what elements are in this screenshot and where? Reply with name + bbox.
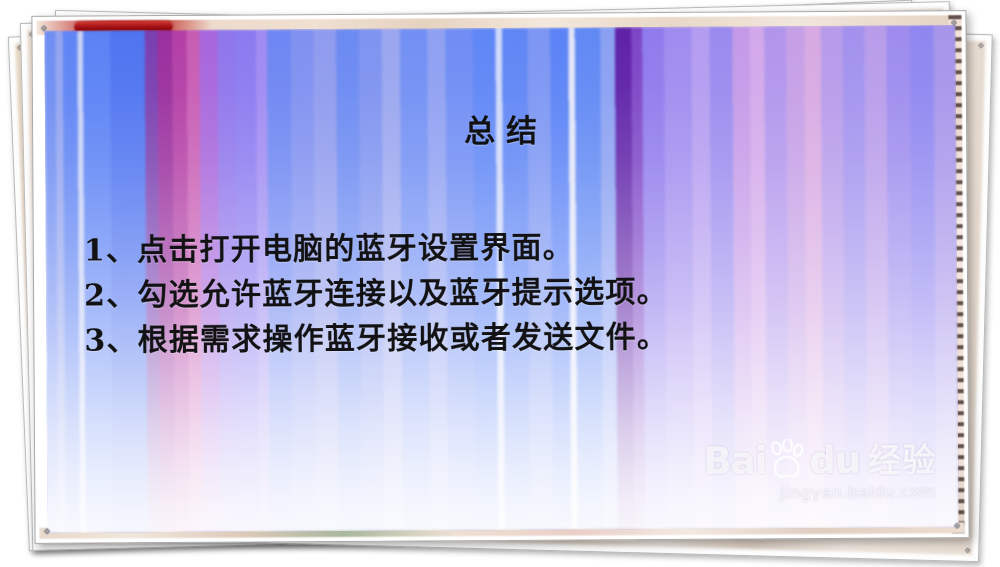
screw-icon xyxy=(38,23,49,34)
screw-icon xyxy=(42,526,53,537)
body-line-3: 3、根据需求操作蓝牙接收或者发送文件。 xyxy=(84,314,887,364)
body-line-2: 2、勾选允许蓝牙连接以及蓝牙提示选项。 xyxy=(84,269,887,319)
slide-frame: 总结 1、点击打开电脑的蓝牙设置界面。 2、勾选允许蓝牙连接以及蓝牙提示选项。 … xyxy=(31,10,969,544)
watermark-logo-row: Bai du 经验 xyxy=(703,438,936,481)
screw-icon xyxy=(951,520,962,531)
screw-icon xyxy=(948,17,959,28)
screenshot-stage: 总结 1、点击打开电脑的蓝牙设置界面。 2、勾选允许蓝牙连接以及蓝牙提示选项。 … xyxy=(0,0,1000,567)
watermark-url: jingyan.baidu.com xyxy=(704,482,937,502)
watermark-brand-first: Bai xyxy=(703,442,766,479)
slide-body: 1、点击打开电脑的蓝牙设置界面。 2、勾选允许蓝牙连接以及蓝牙提示选项。 3、根… xyxy=(84,224,888,364)
body-line-1: 1、点击打开电脑的蓝牙设置界面。 xyxy=(84,224,887,274)
screw-icon xyxy=(975,40,986,51)
screw-icon xyxy=(962,545,973,556)
baidu-watermark: Bai du 经验 jingyan xyxy=(703,438,936,502)
watermark-brand-second: du xyxy=(809,441,860,478)
slide-title: 总结 xyxy=(45,103,956,154)
watermark-brand-cn: 经验 xyxy=(868,443,936,476)
paw-print-icon xyxy=(766,439,806,481)
slide-canvas: 总结 1、点击打开电脑的蓝牙设置界面。 2、勾选允许蓝牙连接以及蓝牙提示选项。 … xyxy=(44,25,958,533)
